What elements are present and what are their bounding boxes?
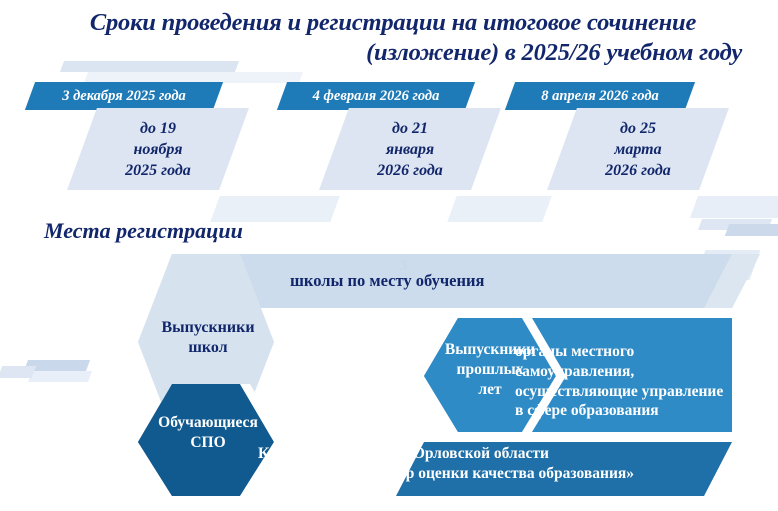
flow-svg xyxy=(60,250,778,500)
deadline-line-1: до 21 xyxy=(392,118,428,139)
deadline-text: до 21 января 2026 года xyxy=(334,108,486,190)
date-card-header: 3 декабря 2025 года xyxy=(25,82,223,110)
deadline-line-3: 2025 года xyxy=(125,160,191,181)
title-line-2: (изложение) в 2025/26 учебном году xyxy=(40,38,746,68)
date-card-body: до 25 марта 2026 года xyxy=(547,108,729,190)
decor-stripe xyxy=(690,196,778,218)
deadline-line-1: до 19 xyxy=(140,118,176,139)
decor-stripe xyxy=(698,219,772,230)
exam-date-label: 3 декабря 2025 года xyxy=(30,82,218,110)
date-card: 4 февраля 2026 года до 21 января 2026 го… xyxy=(282,82,522,192)
deadline-text: до 19 ноября 2025 года xyxy=(82,108,234,190)
deadline-line-2: ноября xyxy=(134,139,183,160)
place-bar-schools-shape xyxy=(172,254,760,308)
date-card: 3 декабря 2025 года до 19 ноября 2025 го… xyxy=(30,82,270,192)
deadline-line-2: января xyxy=(386,139,434,160)
decor-stripe xyxy=(725,224,778,236)
date-card-header: 8 апреля 2026 года xyxy=(505,82,695,110)
registration-flow-diagram: Выпускники школ Выпускники прошлых лет О… xyxy=(60,250,778,500)
deadline-line-3: 2026 года xyxy=(377,160,443,181)
place-bar-institution xyxy=(396,442,732,496)
bar-gap-1 xyxy=(274,308,760,318)
exam-date-label: 8 апреля 2026 года xyxy=(510,82,690,110)
deadline-line-3: 2026 года xyxy=(605,160,671,181)
deadline-line-2: марта xyxy=(614,139,661,160)
page-title: Сроки проведения и регистрации на итогов… xyxy=(40,8,746,68)
date-card: 8 апреля 2026 года до 25 марта 2026 года xyxy=(510,82,760,192)
exam-date-label: 4 февраля 2026 года xyxy=(282,82,470,110)
deadline-text: до 25 марта 2026 года xyxy=(562,108,714,190)
slide-number-watermark: 3 xyxy=(400,258,408,275)
date-card-header: 4 февраля 2026 года xyxy=(277,82,475,110)
decor-stripe xyxy=(0,366,36,378)
section-heading: Места регистрации xyxy=(44,218,243,244)
title-line-1: Сроки проведения и регистрации на итогов… xyxy=(40,8,746,38)
date-card-body: до 19 ноября 2025 года xyxy=(67,108,249,190)
infographic-poster: Сроки проведения и регистрации на итогов… xyxy=(0,0,778,511)
deadline-line-1: до 25 xyxy=(620,118,656,139)
decor-stripe xyxy=(447,196,551,222)
date-card-body: до 21 января 2026 года xyxy=(319,108,501,190)
bar-gap-2 xyxy=(274,432,760,442)
